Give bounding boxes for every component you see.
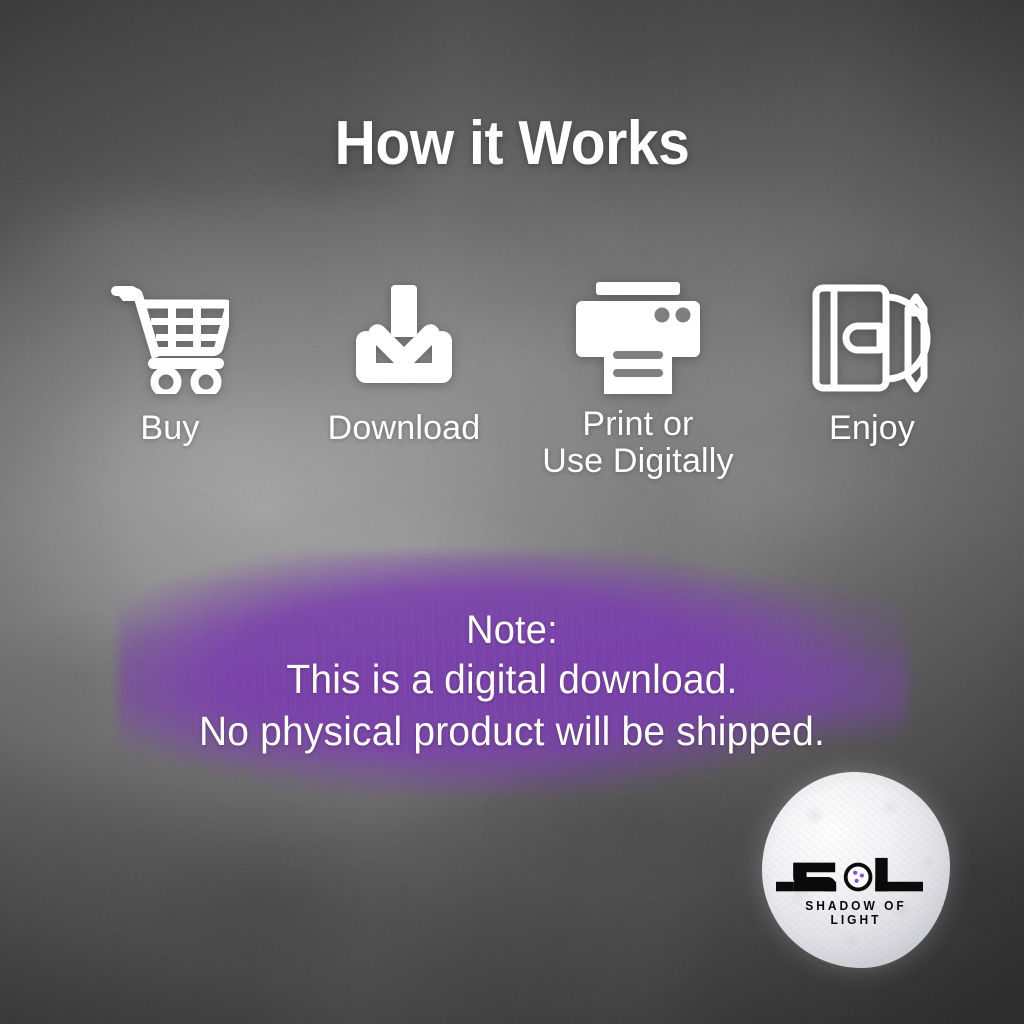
logo-mark: SHADOW OF LIGHT <box>776 856 936 927</box>
brand-logo: SHADOW OF LIGHT <box>762 772 950 968</box>
step-label: Enjoy <box>829 410 915 447</box>
page-title: How it Works <box>41 108 983 179</box>
note-line-1: This is a digital download. <box>26 653 999 705</box>
logo-tagline: SHADOW OF LIGHT <box>779 899 933 927</box>
step-label: Download <box>328 410 481 447</box>
note-block: Note: This is a digital download. No phy… <box>0 608 1024 758</box>
step-print-or-use-digitally: Print or Use Digitally <box>522 278 754 479</box>
step-enjoy: Enjoy <box>756 278 988 447</box>
printer-icon <box>574 278 702 398</box>
step-buy: Buy <box>54 278 286 447</box>
notebook-pencil-icon <box>812 278 932 398</box>
shopping-cart-icon <box>111 278 229 398</box>
step-download: Download <box>288 278 520 447</box>
logo-sol-wordmark <box>776 856 929 898</box>
promo-graphic: How it Works <box>0 0 1024 1024</box>
note-heading: Note: <box>26 608 999 653</box>
steps-row: Buy Download <box>54 278 988 479</box>
step-label: Print or Use Digitally <box>542 406 734 479</box>
note-line-2: No physical product will be shipped. <box>26 705 999 757</box>
step-label: Buy <box>140 410 199 447</box>
download-icon <box>345 278 463 398</box>
